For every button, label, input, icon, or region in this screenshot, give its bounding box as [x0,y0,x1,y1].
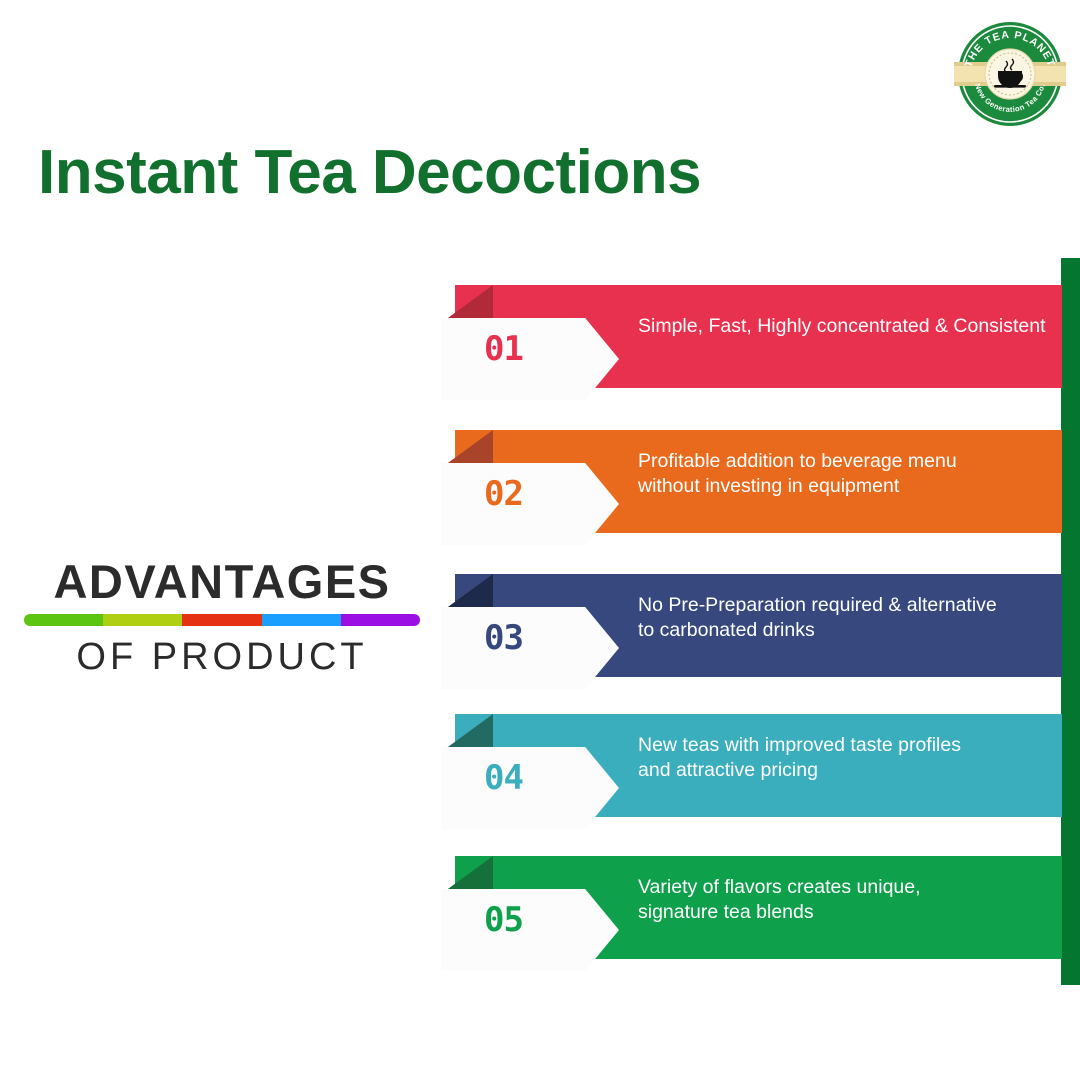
advantage-row[interactable]: 05Variety of flavors creates unique,sign… [0,856,1080,1001]
advantage-number-card [441,463,619,545]
advantage-number: 04 [484,758,523,798]
advantage-row[interactable]: 01Simple, Fast, Highly concentrated & Co… [0,285,1080,430]
advantage-number: 03 [484,618,523,658]
advantage-description: Variety of flavors creates unique,signat… [638,875,1048,925]
advantage-row[interactable]: 02Profitable addition to beverage menuwi… [0,430,1080,575]
advantage-description: Simple, Fast, Highly concentrated & Cons… [638,314,1048,339]
advantage-description: No Pre-Preparation required & alternativ… [638,593,1048,643]
advantage-number-card [441,747,619,829]
advantage-row[interactable]: 04New teas with improved taste profilesa… [0,714,1080,859]
advantage-number-card [441,318,619,400]
advantage-number-card [441,607,619,689]
advantage-description-line: New teas with improved taste profiles [638,733,1048,758]
advantage-description-line: to carbonated drinks [638,618,1048,643]
advantage-number: 02 [484,474,523,514]
advantage-number: 01 [484,329,523,369]
advantage-row[interactable]: 03No Pre-Preparation required & alternat… [0,574,1080,719]
advantage-description-line: Variety of flavors creates unique, [638,875,1048,900]
advantage-rows: 01Simple, Fast, Highly concentrated & Co… [0,0,1080,1080]
advantage-description-line: No Pre-Preparation required & alternativ… [638,593,1048,618]
advantage-description-line: without investing in equipment [638,474,1048,499]
advantage-description: New teas with improved taste profilesand… [638,733,1048,783]
advantage-description: Profitable addition to beverage menuwith… [638,449,1048,499]
advantage-description-line: and attractive pricing [638,758,1048,783]
advantage-number: 05 [484,900,523,940]
advantage-description-line: Profitable addition to beverage menu [638,449,1048,474]
infographic-canvas: THE TEA PLANET New Generation Tea Co. In… [0,0,1080,1080]
advantage-number-card [441,889,619,971]
advantage-description-line: signature tea blends [638,900,1048,925]
advantage-description-line: Simple, Fast, Highly concentrated & Cons… [638,314,1048,339]
